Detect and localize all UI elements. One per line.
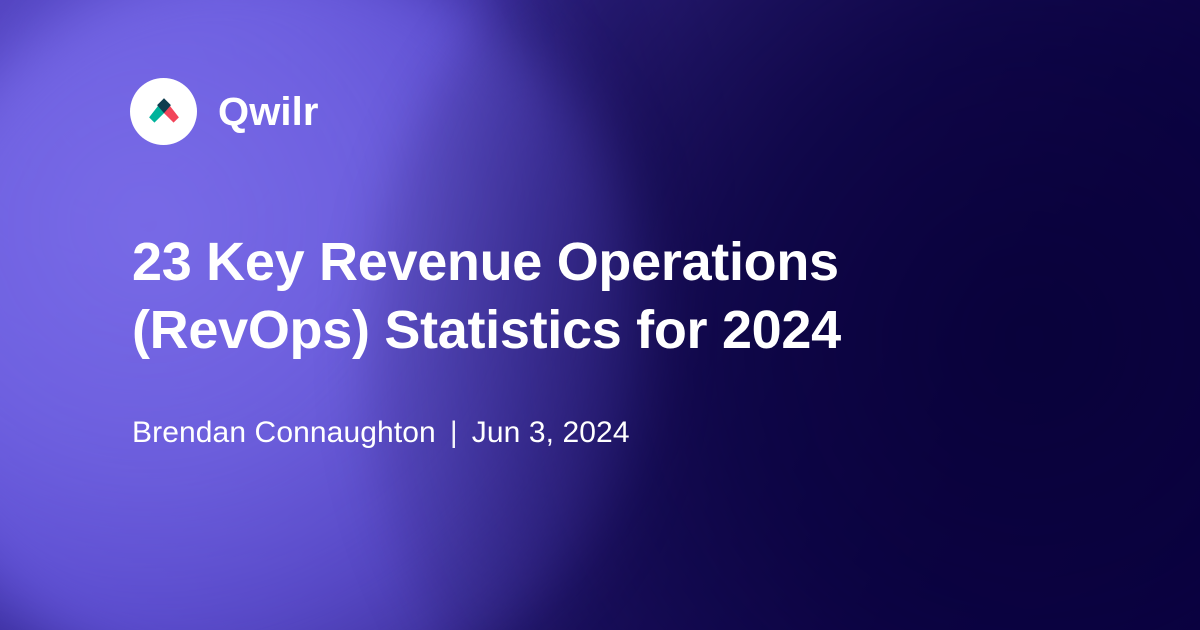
social-share-card: Qwilr 23 Key Revenue Operations (RevOps)… xyxy=(0,0,1200,630)
article-title: 23 Key Revenue Operations (RevOps) Stati… xyxy=(132,228,1062,364)
publish-date: Jun 3, 2024 xyxy=(472,414,630,452)
author-name: Brendan Connaughton xyxy=(132,414,436,452)
byline-separator: | xyxy=(436,414,472,452)
qwilr-logo-badge xyxy=(130,78,197,145)
qwilr-logo-icon xyxy=(147,95,181,129)
article-byline: Brendan Connaughton | Jun 3, 2024 xyxy=(132,414,630,452)
qwilr-wordmark: Qwilr xyxy=(218,92,319,132)
card-content: Qwilr 23 Key Revenue Operations (RevOps)… xyxy=(0,0,1200,630)
brand-lockup[interactable]: Qwilr xyxy=(130,78,319,145)
